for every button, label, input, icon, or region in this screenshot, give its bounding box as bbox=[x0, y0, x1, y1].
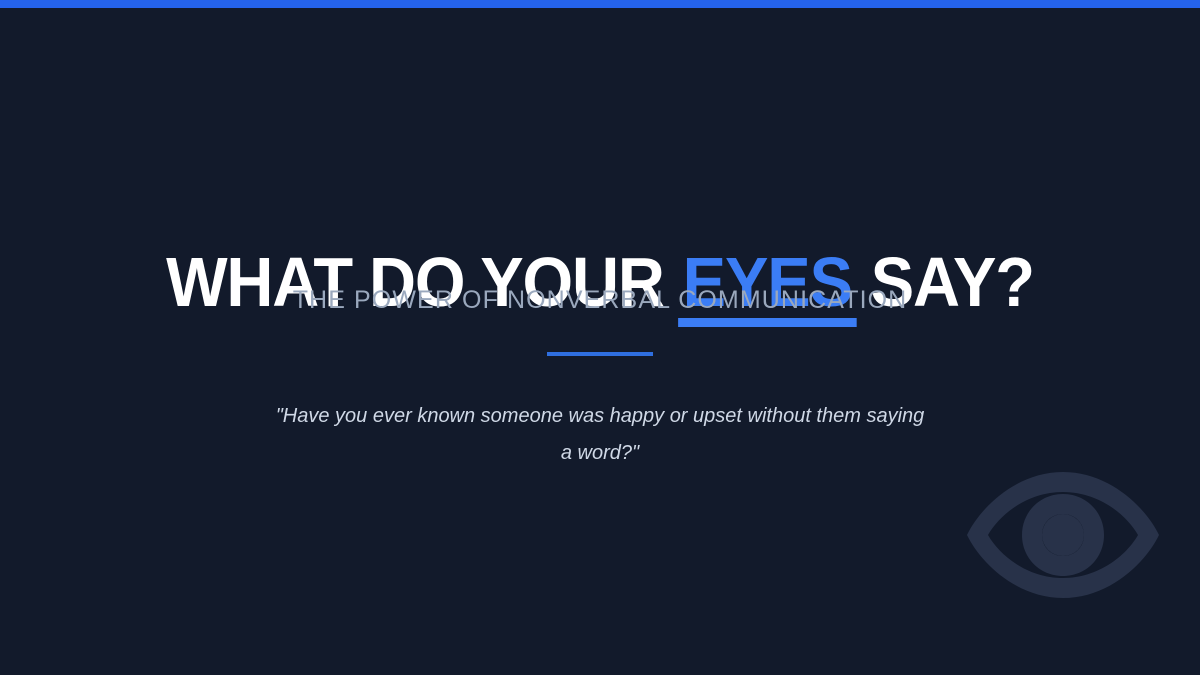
slide-content: WHAT DO YOUR EYES SAY? THE POWER OF NONV… bbox=[0, 0, 1200, 675]
slide-subtitle: THE POWER OF NONVERBAL COMMUNICATION bbox=[0, 284, 1200, 316]
divider-rule bbox=[547, 352, 653, 356]
presentation-slide: WHAT DO YOUR EYES SAY? THE POWER OF NONV… bbox=[0, 0, 1200, 675]
slide-quote: "Have you ever known someone was happy o… bbox=[270, 398, 930, 472]
